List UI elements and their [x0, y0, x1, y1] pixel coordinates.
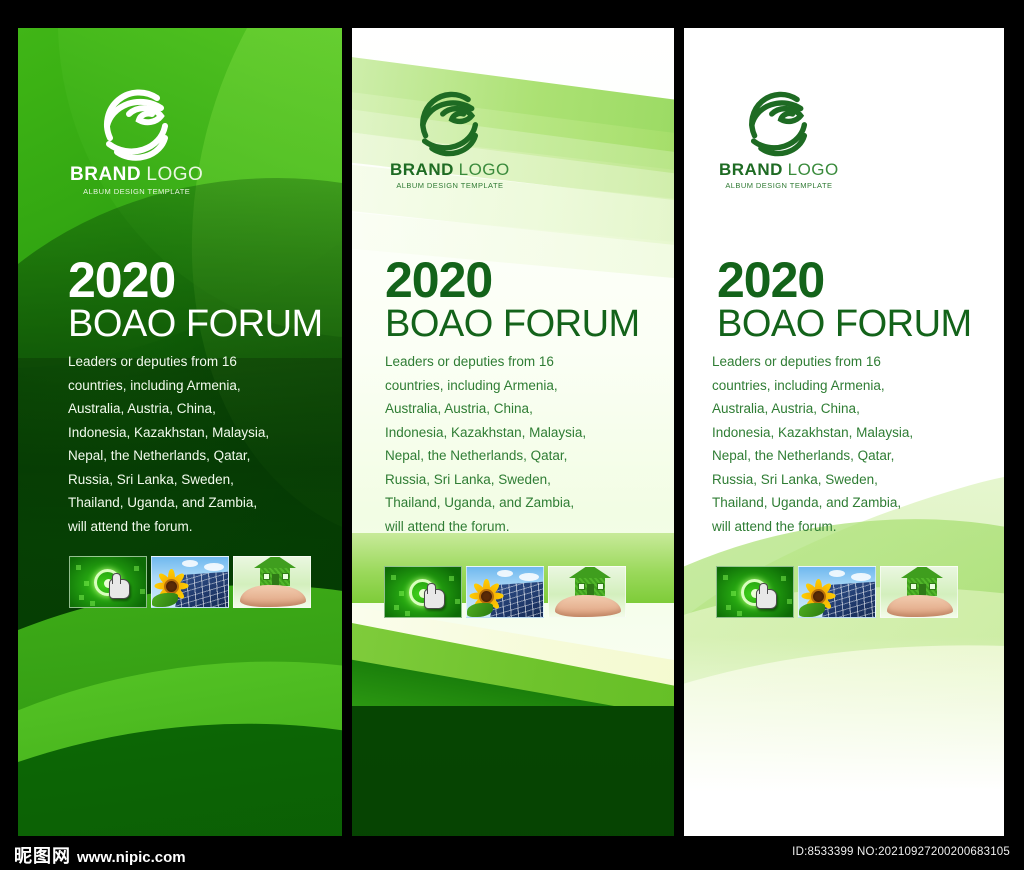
- headline-event: BOAO FORUM: [385, 305, 640, 344]
- body-line: Australia, Austria, China,: [712, 397, 967, 421]
- body-line: Leaders or deputies from 16: [385, 350, 640, 374]
- site-name-cn: 昵图网: [14, 842, 71, 868]
- body-line: Indonesia, Kazakhstan, Malaysia,: [712, 421, 967, 445]
- globe-spiral-icon: [412, 88, 488, 158]
- sunflower-solar-panel-thumbnail[interactable]: [798, 566, 876, 618]
- thumbnail-strip: [384, 566, 626, 618]
- brand-logo-block[interactable]: BRAND LOGO ALBUM DESIGN TEMPLATE: [719, 88, 839, 190]
- headline-block: 2020 BOAO FORUM: [385, 256, 640, 344]
- thumbnail-strip: [69, 556, 311, 608]
- site-url[interactable]: www.nipic.com: [77, 849, 186, 866]
- body-line: will attend the forum.: [712, 515, 967, 539]
- sunflower-solar-panel-thumbnail[interactable]: [466, 566, 544, 618]
- body-line: Russia, Sri Lanka, Sweden,: [385, 468, 640, 492]
- brand-name-bold: BRAND: [70, 164, 141, 185]
- headline-event: BOAO FORUM: [68, 305, 323, 344]
- green-touch-button-thumbnail[interactable]: [69, 556, 147, 608]
- body-line: Thailand, Uganda, and Zambia,: [385, 491, 640, 515]
- body-line: will attend the forum.: [68, 515, 318, 539]
- brand-name-light: LOGO: [459, 160, 510, 179]
- brand-logo-block[interactable]: BRAND LOGO ALBUM DESIGN TEMPLATE: [390, 88, 510, 190]
- headline-block: 2020 BOAO FORUM: [68, 256, 323, 344]
- brand-name-light: LOGO: [788, 160, 839, 179]
- headline-year: 2020: [68, 256, 323, 305]
- body-line: Nepal, the Netherlands, Qatar,: [68, 444, 318, 468]
- brand-logo-wordmark: BRAND LOGO: [719, 160, 839, 180]
- body-line: countries, including Armenia,: [68, 374, 318, 398]
- body-line: Russia, Sri Lanka, Sweden,: [712, 468, 967, 492]
- headline-block: 2020 BOAO FORUM: [717, 256, 972, 344]
- banner-panel-2[interactable]: BRAND LOGO ALBUM DESIGN TEMPLATE 2020 BO…: [352, 28, 674, 836]
- body-copy: Leaders or deputies from 16 countries, i…: [385, 350, 640, 538]
- banner-panel-3[interactable]: BRAND LOGO ALBUM DESIGN TEMPLATE 2020 BO…: [684, 28, 1004, 836]
- brand-name-bold: BRAND: [390, 160, 454, 179]
- body-line: Indonesia, Kazakhstan, Malaysia,: [385, 421, 640, 445]
- site-branding[interactable]: 昵图网 www.nipic.com: [14, 842, 186, 868]
- hand-holding-grass-house-thumbnail[interactable]: [548, 566, 626, 618]
- brand-logo-wordmark: BRAND LOGO: [390, 160, 510, 180]
- footer-bar: 昵图网 www.nipic.com ID:8533399 NO:20210927…: [0, 836, 1024, 870]
- body-line: will attend the forum.: [385, 515, 640, 539]
- globe-spiral-icon: [95, 86, 179, 162]
- body-line: countries, including Armenia,: [712, 374, 967, 398]
- body-line: Leaders or deputies from 16: [712, 350, 967, 374]
- brand-tagline: ALBUM DESIGN TEMPLATE: [70, 187, 203, 196]
- banner-canvas: BRAND LOGO ALBUM DESIGN TEMPLATE 2020 BO…: [0, 0, 1024, 870]
- green-touch-button-thumbnail[interactable]: [716, 566, 794, 618]
- body-line: Australia, Austria, China,: [68, 397, 318, 421]
- headline-event: BOAO FORUM: [717, 305, 972, 344]
- brand-name-light: LOGO: [146, 164, 203, 185]
- brand-name-bold: BRAND: [719, 160, 783, 179]
- green-touch-button-thumbnail[interactable]: [384, 566, 462, 618]
- body-line: Leaders or deputies from 16: [68, 350, 318, 374]
- sunflower-solar-panel-thumbnail[interactable]: [151, 556, 229, 608]
- globe-spiral-icon: [741, 88, 817, 158]
- brand-logo-block[interactable]: BRAND LOGO ALBUM DESIGN TEMPLATE: [70, 86, 203, 196]
- headline-year: 2020: [717, 256, 972, 305]
- body-line: Australia, Austria, China,: [385, 397, 640, 421]
- banner-panel-1[interactable]: BRAND LOGO ALBUM DESIGN TEMPLATE 2020 BO…: [18, 28, 342, 836]
- body-copy: Leaders or deputies from 16 countries, i…: [712, 350, 967, 538]
- body-line: Thailand, Uganda, and Zambia,: [712, 491, 967, 515]
- body-line: Thailand, Uganda, and Zambia,: [68, 491, 318, 515]
- brand-tagline: ALBUM DESIGN TEMPLATE: [719, 181, 839, 190]
- brand-tagline: ALBUM DESIGN TEMPLATE: [390, 181, 510, 190]
- thumbnail-strip: [716, 566, 958, 618]
- hand-holding-grass-house-thumbnail[interactable]: [233, 556, 311, 608]
- brand-logo-wordmark: BRAND LOGO: [70, 164, 203, 186]
- body-line: countries, including Armenia,: [385, 374, 640, 398]
- body-line: Russia, Sri Lanka, Sweden,: [68, 468, 318, 492]
- hand-holding-grass-house-thumbnail[interactable]: [880, 566, 958, 618]
- body-copy: Leaders or deputies from 16 countries, i…: [68, 350, 318, 538]
- asset-id-label: ID:8533399 NO:20210927200200683105: [792, 846, 1010, 858]
- headline-year: 2020: [385, 256, 640, 305]
- body-line: Nepal, the Netherlands, Qatar,: [712, 444, 967, 468]
- body-line: Nepal, the Netherlands, Qatar,: [385, 444, 640, 468]
- body-line: Indonesia, Kazakhstan, Malaysia,: [68, 421, 318, 445]
